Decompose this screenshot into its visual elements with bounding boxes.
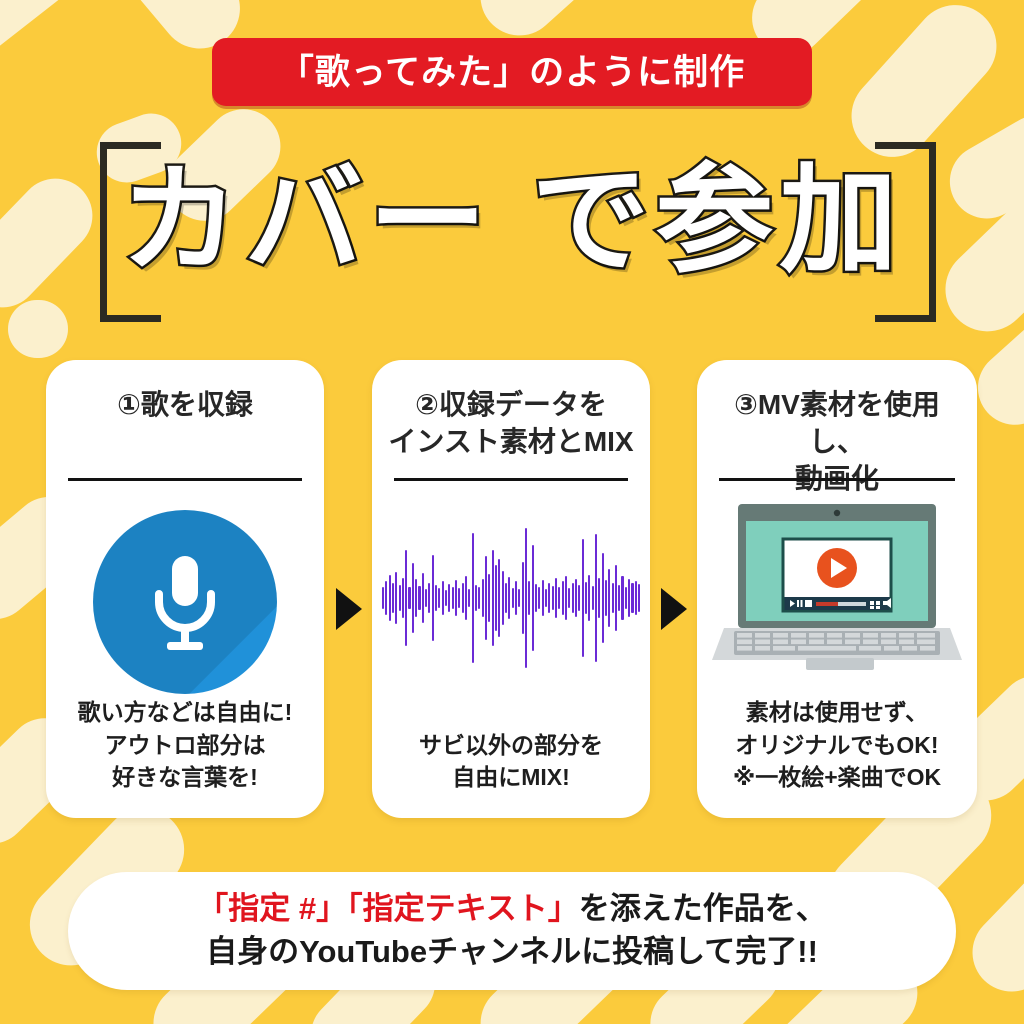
waveform-bar (492, 550, 494, 646)
step-card-2-art (372, 498, 650, 698)
waveform-bar (618, 585, 620, 611)
waveform-bar (635, 581, 637, 615)
waveform-bar (452, 587, 454, 609)
waveform-bar (515, 581, 517, 615)
waveform-bar (485, 556, 487, 640)
bottom-banner-tag-hash: 「指定 #」 (197, 891, 347, 926)
waveform-bar (562, 581, 564, 615)
waveform-bar (575, 579, 577, 617)
waveform-bar (422, 573, 424, 623)
waveform-bar (402, 578, 404, 618)
waveform-bar (488, 574, 490, 622)
waveform-bar (555, 578, 557, 618)
waveform-bar (552, 586, 554, 610)
step-card-2: ②収録データを インスト素材とMIX サビ以外の部分を 自由にMIX! (372, 360, 650, 818)
step-card-1: ①歌を収録 歌い方などは自由に! アウトロ部分は 好きな言葉を! (46, 360, 324, 818)
waveform-bar (465, 576, 467, 620)
step-card-1-caption-line2: アウトロ部分は (54, 729, 316, 762)
waveform-bar (442, 581, 444, 615)
waveform-bar (428, 583, 430, 613)
step-card-1-caption: 歌い方などは自由に! アウトロ部分は 好きな言葉を! (54, 696, 316, 794)
waveform-bar (598, 578, 600, 618)
step-card-3-heading-line1: ③MV素材を使用し、 (734, 389, 940, 457)
step-card-1-divider (68, 478, 302, 481)
step-card-2-caption: サビ以外の部分を 自由にMIX! (380, 729, 642, 794)
waveform-bar (592, 586, 594, 610)
step-card-3: ③MV素材を使用し、 動画化 (697, 360, 977, 818)
step-card-1-caption-line3: 好きな言葉を! (54, 761, 316, 794)
waveform-bar (522, 562, 524, 634)
waveform-bar (478, 587, 480, 609)
waveform-bar (412, 563, 414, 633)
waveform-bar (548, 583, 550, 613)
microphone-icon (93, 510, 277, 694)
waveform-bar (495, 565, 497, 631)
waveform-bar (518, 589, 520, 607)
step-card-1-art (46, 498, 324, 698)
bottom-banner: 「指定 #」「指定テキスト」を添えた作品を、 自身のYouTubeチャンネルに投… (68, 872, 956, 990)
waveform-bar (631, 583, 633, 613)
waveform-bar (418, 586, 420, 610)
waveform-bar (482, 579, 484, 617)
waveform-bar (542, 580, 544, 616)
waveform-bar (498, 559, 500, 637)
waveform-bar (462, 583, 464, 613)
microphone-glyph (139, 550, 231, 654)
title-block: カバー で参加 (0, 134, 1024, 314)
waveform-bar (525, 528, 527, 668)
waveform-bar (505, 583, 507, 613)
waveform-bar (595, 534, 597, 662)
waveform-bar (538, 587, 540, 609)
waveform-bar (405, 550, 407, 646)
waveform-bar (458, 588, 460, 608)
laptop-video-icon (710, 502, 964, 674)
header-badge-label: 「歌ってみた」のように制作 (279, 55, 745, 90)
bottom-banner-line-1: 「指定 #」「指定テキスト」を添えた作品を、 (197, 888, 826, 931)
step-card-2-caption-line2: 自由にMIX! (380, 761, 642, 794)
waveform-bar (572, 583, 574, 613)
waveform-bar (512, 588, 514, 608)
waveform-bar (435, 585, 437, 611)
step-card-1-heading: ①歌を収録 (58, 386, 312, 423)
step-card-1-caption-line1: 歌い方などは自由に! (54, 696, 316, 729)
header-badge: 「歌ってみた」のように制作 (212, 38, 812, 106)
waveform-bar (455, 580, 457, 616)
waveform-bar (621, 576, 623, 620)
waveform-bar (608, 569, 610, 627)
waveform-bar (535, 584, 537, 612)
waveform-bar (385, 581, 387, 615)
step-card-3-caption-line1: 素材は使用せず、 (705, 696, 969, 729)
bottom-banner-line-1-rest: を添えた作品を、 (579, 891, 827, 926)
waveform-bar (628, 579, 630, 617)
waveform-bar (558, 587, 560, 609)
step-card-3-caption-line2: オリジナルでもOK! (705, 729, 969, 762)
waveform-bar (585, 582, 587, 614)
waveform-bar (389, 575, 391, 621)
step-card-3-art (697, 498, 977, 698)
waveform-bar (432, 555, 434, 641)
waveform-bar (638, 584, 640, 612)
arrow-right-icon-1 (336, 588, 362, 630)
waveform-bar (408, 587, 410, 609)
waveform-bar (612, 583, 614, 613)
waveform-bar (565, 576, 567, 620)
step-card-3-caption: 素材は使用せず、 オリジナルでもOK! ※一枚絵+楽曲でOK (705, 696, 969, 794)
waveform-bar (588, 575, 590, 621)
waveform-bar (475, 585, 477, 611)
waveform-bar (605, 580, 607, 616)
waveform-bar (578, 585, 580, 611)
waveform-bar (392, 583, 394, 613)
waveform-bar (472, 533, 474, 663)
waveform-bar (468, 589, 470, 607)
waveform-bar (532, 545, 534, 651)
step-card-2-heading-line2: インスト素材とMIX (384, 423, 638, 460)
waveform-bar (445, 590, 447, 606)
waveform-bar (508, 577, 510, 619)
bottom-banner-line-2: 自身のYouTubeチャンネルに投稿して完了!! (206, 931, 818, 974)
bottom-banner-tag-text: 「指定テキスト」 (347, 891, 579, 926)
waveform-bar (528, 581, 530, 615)
waveform-bar (568, 588, 570, 608)
step-card-1-heading-line1: ①歌を収録 (117, 389, 253, 420)
step-card-2-heading-line1: ②収録データを (415, 389, 607, 420)
step-card-2-divider (394, 478, 628, 481)
waveform-bar (602, 553, 604, 643)
page-title: カバー で参加 (0, 152, 1024, 291)
waveform-bar (545, 589, 547, 607)
waveform-bar (448, 584, 450, 612)
waveform-bar (395, 572, 397, 624)
waveform-bar (382, 587, 384, 609)
background-capsule (0, 0, 86, 71)
step-card-2-caption-line1: サビ以外の部分を (380, 729, 642, 762)
waveform-bar (415, 579, 417, 617)
steps-row: ①歌を収録 歌い方などは自由に! アウトロ部分は 好きな言葉を! ②収録データを (0, 360, 1024, 820)
waveform-bar (438, 588, 440, 608)
waveform-bar (502, 571, 504, 625)
waveform-bar (625, 587, 627, 609)
step-card-3-caption-line3: ※一枚絵+楽曲でOK (705, 761, 969, 794)
waveform-bar (582, 539, 584, 657)
step-card-2-heading: ②収録データを インスト素材とMIX (384, 386, 638, 460)
background-capsule (956, 838, 1024, 1007)
audio-waveform-icon (382, 508, 640, 688)
waveform-bar (399, 585, 401, 611)
waveform-bar (615, 565, 617, 631)
arrow-right-icon-2 (661, 588, 687, 630)
waveform-bar (425, 589, 427, 607)
step-card-3-divider (719, 478, 955, 481)
